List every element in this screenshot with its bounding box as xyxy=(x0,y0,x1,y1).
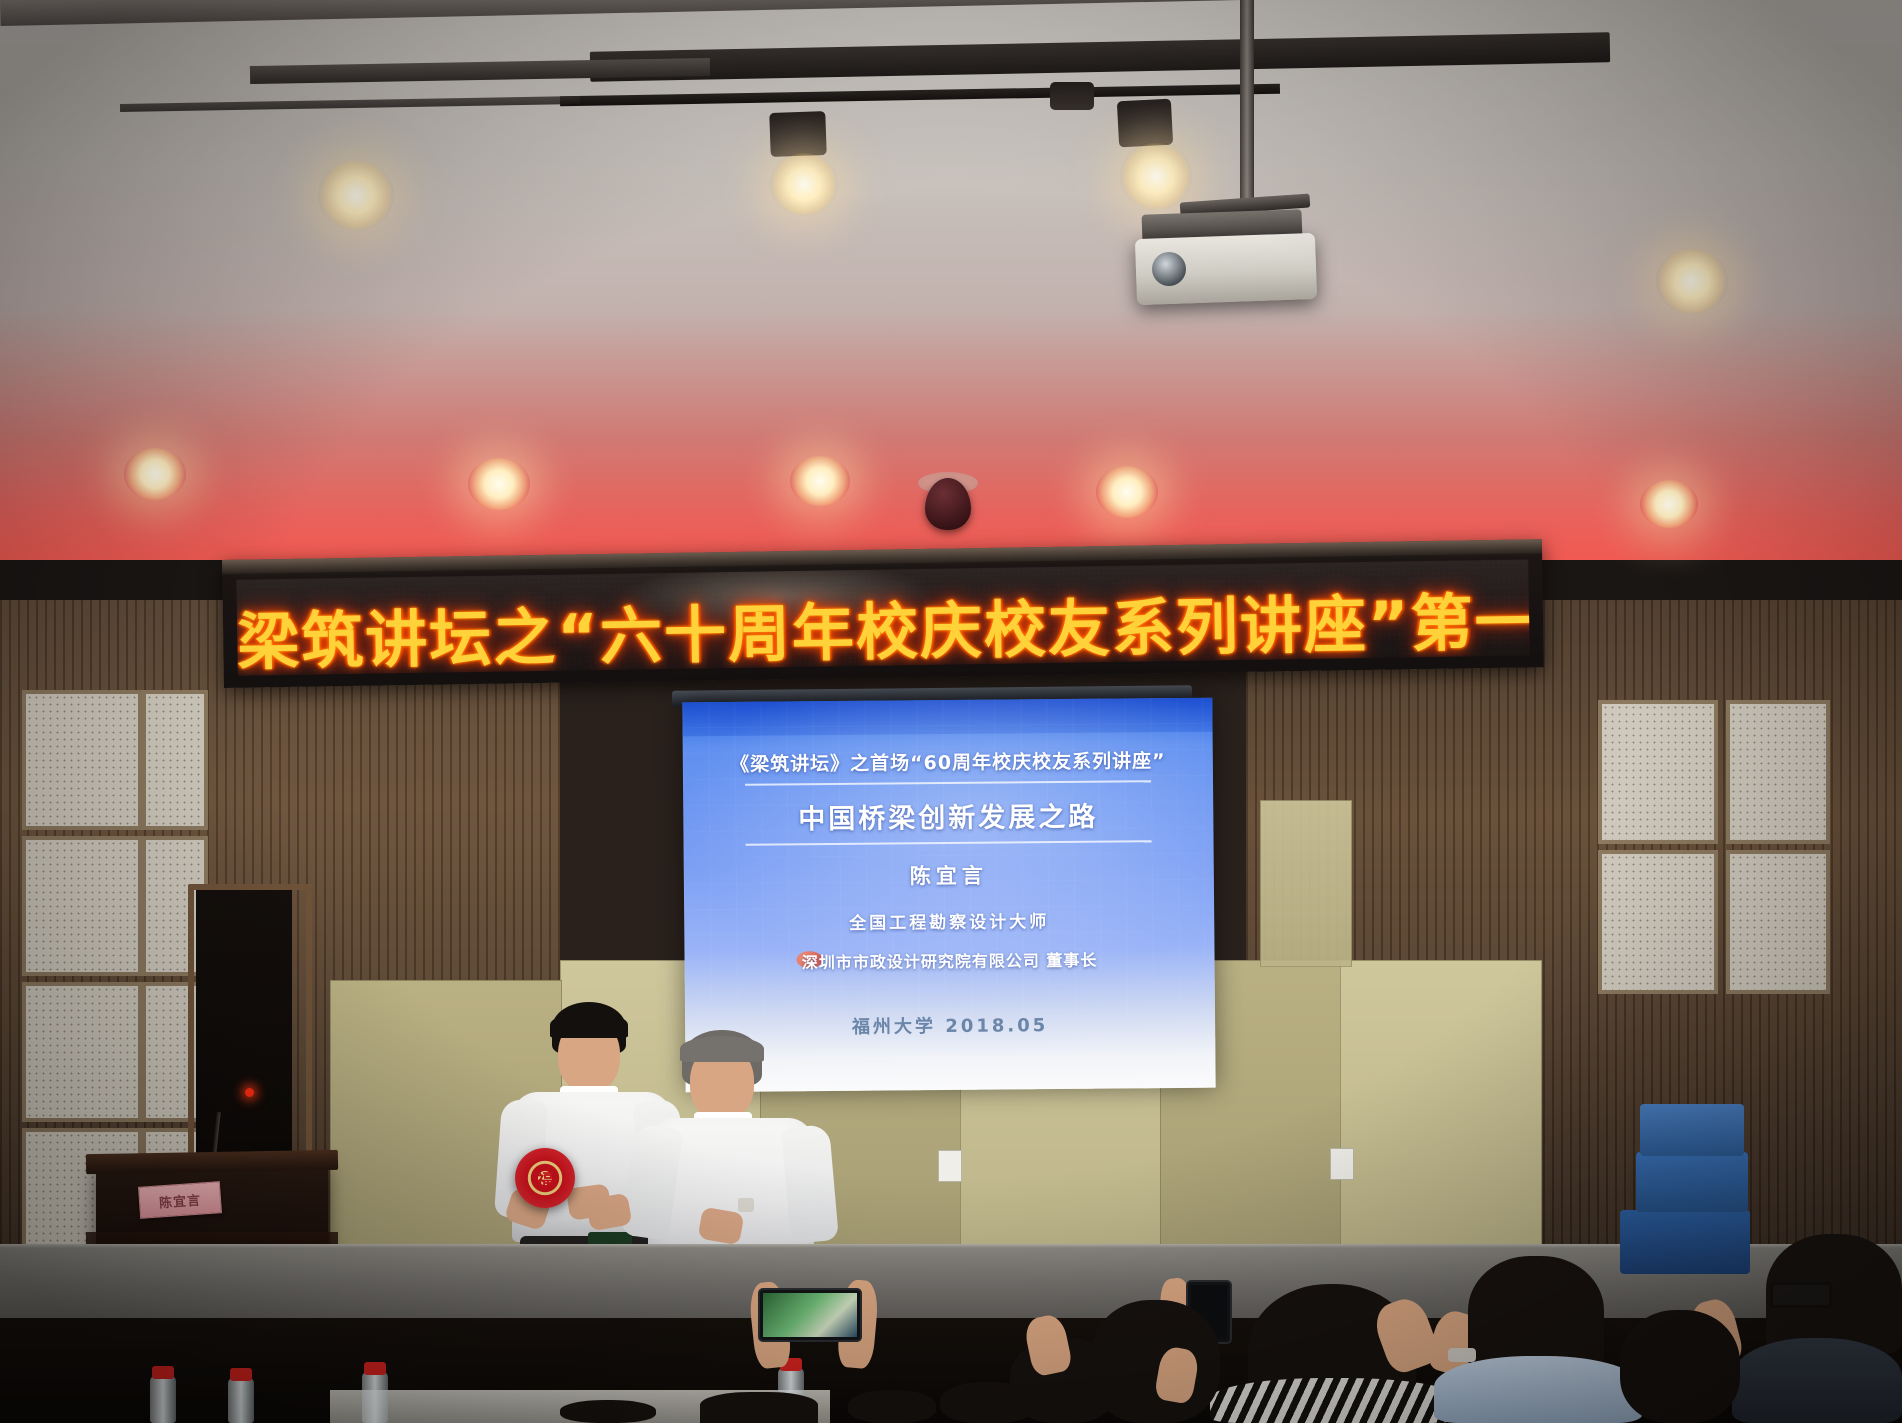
acoustic-panel-5 xyxy=(142,690,208,830)
ceiling-spotlight-9 xyxy=(1640,480,1698,528)
stage-wall-panel-7 xyxy=(1260,800,1352,967)
auditorium-photo: 梁筑讲坛之“六十周年校庆校友系列讲座”第一讲 《梁筑讲坛》之首场“60周年校庆校… xyxy=(0,0,1902,1423)
led-banner: 梁筑讲坛之“六十周年校庆校友系列讲座”第一讲 xyxy=(222,539,1544,688)
equipment-crate-3 xyxy=(1640,1104,1744,1156)
award-plaque: 福 xyxy=(515,1148,575,1208)
audience-blue-shirt xyxy=(1434,1356,1642,1423)
projector-mount-pole xyxy=(1240,0,1254,220)
audience-head-7 xyxy=(940,1382,1036,1423)
slide-venue-date: 福州大学 2018.05 xyxy=(685,1010,1215,1041)
slide-title: 中国桥梁创新发展之路 xyxy=(683,794,1213,838)
award-plaque-character: 福 xyxy=(537,1166,554,1191)
acoustic-panel-3 xyxy=(22,982,142,1122)
audience-head-10 xyxy=(560,1400,656,1423)
projector-lens xyxy=(1152,252,1186,286)
equipment-crate-1 xyxy=(1620,1210,1750,1274)
acoustic-panel-2 xyxy=(22,836,142,976)
presenter-right-wristwatch xyxy=(738,1198,754,1212)
acoustic-panel-1 xyxy=(22,690,142,830)
audience-wristwatch xyxy=(1448,1348,1476,1362)
audience-head-6 xyxy=(1090,1300,1220,1423)
wall-socket-2 xyxy=(1330,1148,1354,1180)
ceiling-spotlight-6 xyxy=(468,458,530,510)
audience-head-1 xyxy=(700,1392,818,1423)
acoustic-panel-10 xyxy=(1598,850,1718,994)
slide-speaker-affiliation: 深圳市市政设计研究院有限公司 董事长 xyxy=(684,946,1214,975)
water-bottle-cap-2 xyxy=(230,1368,252,1381)
ceiling-spotlight-2 xyxy=(770,152,838,216)
water-bottle-3 xyxy=(362,1372,388,1423)
equipment-crate-2 xyxy=(1636,1152,1748,1212)
slide-speaker-title: 全国工程勘察设计大师 xyxy=(684,906,1214,936)
ceiling-spotlight-8 xyxy=(1096,466,1158,518)
podium-name-card: 陈宜言 xyxy=(138,1181,222,1219)
slide-speaker-name: 陈宜言 xyxy=(684,858,1214,893)
presenter-left-hairline xyxy=(550,1012,628,1038)
audience-head-8 xyxy=(1620,1310,1740,1423)
podium-name-card-text: 陈宜言 xyxy=(158,1189,201,1211)
audience-phone-screen-1 xyxy=(763,1293,857,1337)
track-lamp-housing-1 xyxy=(769,111,827,157)
track-lamp-housing-2 xyxy=(1117,99,1173,148)
presenter-right-arm-right xyxy=(781,1124,839,1244)
ceiling-spotlight-3 xyxy=(1120,142,1192,210)
projection-screen: 《梁筑讲坛》之首场“60周年校庆校友系列讲座” 中国桥梁创新发展之路 陈宜言 全… xyxy=(682,698,1215,1093)
track-lamp-housing-3 xyxy=(1050,82,1094,110)
ceiling-spotlight-7 xyxy=(790,456,850,506)
audience-head-9 xyxy=(848,1390,936,1423)
water-bottle-1 xyxy=(150,1376,176,1423)
water-bottle-cap-3 xyxy=(364,1362,386,1375)
ceiling-spotlight-5 xyxy=(124,448,186,500)
water-bottle-2 xyxy=(228,1378,254,1423)
water-bottle-cap-1 xyxy=(152,1366,174,1379)
slide-subtitle: 《梁筑讲坛》之首场“60周年校庆校友系列讲座” xyxy=(683,746,1213,778)
presenter-right-hairline xyxy=(680,1036,764,1062)
status-indicator-light xyxy=(245,1088,254,1097)
stage-wall-panel-5 xyxy=(1340,960,1542,1252)
led-banner-screen: 梁筑讲坛之“六十周年校庆校友系列讲座”第一讲 xyxy=(236,559,1529,675)
acoustic-panel-11 xyxy=(1726,700,1830,844)
wall-socket-1 xyxy=(938,1150,962,1182)
ceiling-spotlight-1 xyxy=(318,160,394,230)
acoustic-panel-9 xyxy=(1598,700,1718,844)
eyeglasses-icon xyxy=(1770,1282,1832,1308)
acoustic-panel-12 xyxy=(1726,850,1830,994)
ceiling-spotlight-4 xyxy=(1656,248,1728,314)
audience-striped-top xyxy=(1210,1378,1460,1423)
audience-phone-1[interactable] xyxy=(758,1288,862,1342)
audience-dark-shirt xyxy=(1732,1338,1902,1423)
